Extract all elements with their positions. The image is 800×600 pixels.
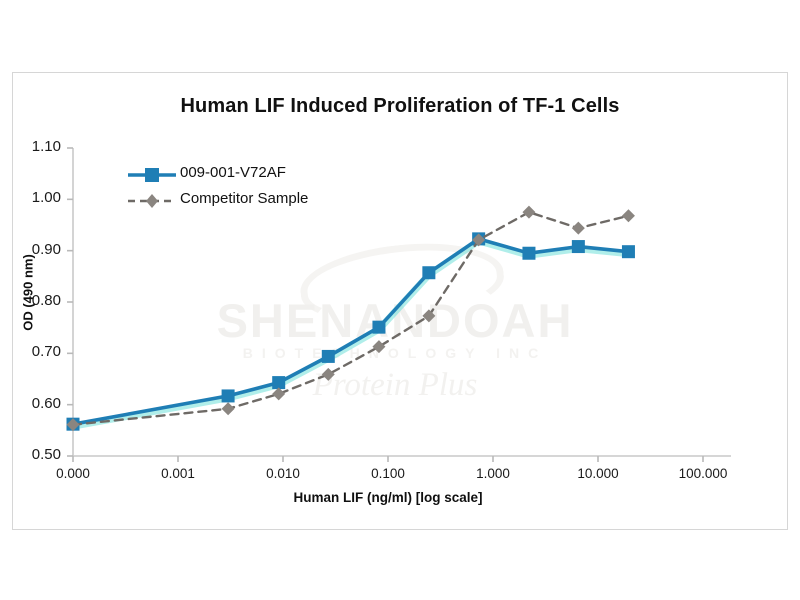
legend-swatch-square-icon	[128, 162, 176, 188]
data-point-marker	[422, 309, 435, 322]
data-point-marker	[322, 350, 335, 363]
x-tick-label: 0.000	[28, 466, 118, 481]
y-tick-label: 0.80	[9, 292, 61, 309]
data-point-marker	[622, 209, 635, 222]
data-point-marker	[522, 206, 535, 219]
series-line	[73, 212, 629, 425]
data-point-marker	[372, 321, 385, 334]
plot-area	[0, 0, 800, 600]
legend-label-series-1: 009-001-V72AF	[180, 164, 286, 181]
data-point-marker	[572, 222, 585, 235]
data-point-marker	[222, 402, 235, 415]
data-point-marker	[422, 266, 435, 279]
data-point-marker	[572, 240, 585, 253]
data-point-marker	[322, 368, 335, 381]
y-tick-label: 0.50	[9, 446, 61, 463]
data-point-marker	[372, 340, 385, 353]
chart-canvas: SHENANDOAH BIOTECHNOLOGY INC Protein Plu…	[0, 0, 800, 600]
data-point-marker	[272, 376, 285, 389]
data-series-group	[67, 206, 635, 432]
x-tick-label: 100.000	[658, 466, 748, 481]
legend-item-series-1[interactable]: 009-001-V72AF	[128, 162, 358, 188]
x-tick-label: 10.000	[553, 466, 643, 481]
legend-label-series-2: Competitor Sample	[180, 190, 308, 207]
data-point-marker	[622, 245, 635, 258]
legend-item-series-2[interactable]: Competitor Sample	[128, 188, 358, 214]
x-tick-label: 0.010	[238, 466, 328, 481]
legend-swatch-diamond-icon	[128, 188, 176, 214]
y-tick-label: 1.00	[9, 189, 61, 206]
y-tick-label: 0.60	[9, 395, 61, 412]
y-tick-label: 0.90	[9, 241, 61, 258]
data-point-marker	[522, 247, 535, 260]
series-line	[73, 239, 629, 424]
x-axis-label: Human LIF (ng/ml) [log scale]	[73, 490, 703, 505]
x-tick-label: 0.100	[343, 466, 433, 481]
data-point-marker	[222, 389, 235, 402]
chart-legend: 009-001-V72AF Competitor Sample	[128, 162, 358, 214]
y-tick-label: 0.70	[9, 343, 61, 360]
y-tick-label: 1.10	[9, 138, 61, 155]
x-tick-label: 1.000	[448, 466, 538, 481]
x-tick-label: 0.001	[133, 466, 223, 481]
